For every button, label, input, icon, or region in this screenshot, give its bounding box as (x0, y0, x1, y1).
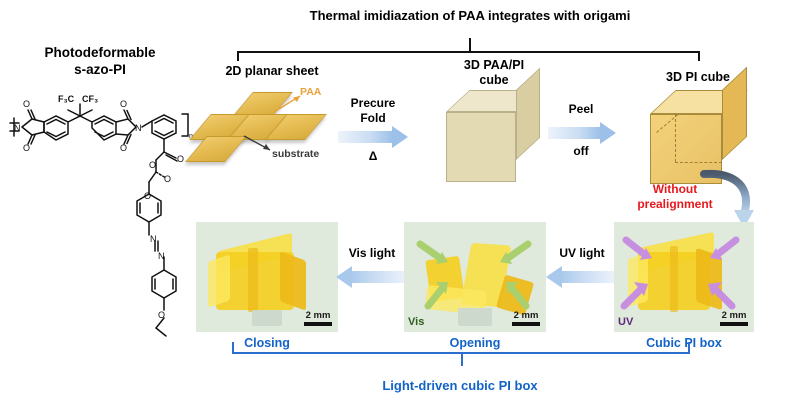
pi-cube-hidden-edge-vertical (675, 114, 676, 162)
precure-label-line2: Fold (336, 111, 410, 126)
bottom-bracket-tick-left (232, 342, 234, 352)
3d-paa-pi-cube-illustration (446, 90, 542, 182)
top-bracket-tick-left (237, 51, 239, 61)
paa-leader-arrow-icon (272, 92, 306, 114)
paa-pi-cube-heading-line2: cube (424, 73, 564, 88)
photo-opening-caption: Opening (404, 336, 546, 350)
photo-cubic-pi-box-caption: Cubic PI box (610, 336, 758, 350)
scalebar-cubic-pi-box: 2 mm (720, 311, 748, 326)
chem-label-o: O (120, 99, 127, 109)
chem-label-n: N (14, 123, 21, 133)
chem-label-azo-n: N (150, 234, 157, 244)
top-bracket-bar (237, 51, 700, 53)
chem-label-o: O (164, 174, 171, 184)
vis-irradiation-arrow-icon (496, 240, 532, 266)
figure-root: Photodeformable s-azo-PI (0, 0, 798, 414)
substrate-label: substrate (272, 148, 319, 160)
uv-irradiation-arrow-icon (706, 278, 738, 310)
uv-irradiation-arrow-icon (620, 278, 652, 310)
scalebar-closing-label: 2 mm (304, 311, 332, 321)
chem-label-o: O (23, 143, 30, 153)
uv-irradiation-arrow-icon (706, 236, 740, 262)
vis-irradiation-arrow-icon (416, 240, 452, 266)
photo-closing: 2 mm (196, 222, 338, 332)
photo-closing-caption: Closing (196, 336, 338, 350)
scalebar-closing-bar (304, 322, 332, 326)
bottom-bracket-stem (461, 352, 463, 366)
top-bracket-tick-right (698, 51, 700, 61)
photo-opening-tag: Vis (408, 316, 424, 328)
chem-label-cf3-right: CF₃ (82, 94, 98, 104)
scalebar-cubic-pi-box-bar (720, 322, 748, 326)
vis-irradiation-arrow-icon (422, 278, 452, 310)
chem-label-o: O (149, 160, 156, 170)
precure-fold-arrow-icon (338, 126, 408, 148)
uv-light-label: UV light (546, 246, 618, 260)
top-title: Thermal imidiazation of PAA integrates w… (255, 8, 685, 23)
substrate-leader-arrow-icon (242, 134, 276, 154)
vis-irradiation-arrow-icon (502, 278, 532, 310)
vis-light-label: Vis light (334, 246, 410, 260)
peel-label-line1: Peel (548, 102, 614, 116)
chem-label-o: O (144, 191, 151, 201)
left-panel-title-line1: Photodeformable (10, 44, 190, 61)
stage-3d-pi-cube-heading: 3D PI cube (618, 70, 778, 84)
stage-3d-paa-pi-cube-heading: 3D PAA/PI cube (424, 58, 564, 88)
bottom-bracket-tick-right (688, 342, 690, 352)
paa-cube-face-front (446, 112, 516, 182)
chem-label-o: O (158, 310, 165, 320)
vis-light-arrow-icon (336, 266, 408, 288)
photo-opening: Vis 2 mm (404, 222, 546, 332)
scalebar-opening-bar (512, 322, 540, 326)
uv-light-arrow-icon (546, 266, 616, 288)
scalebar-opening: 2 mm (512, 311, 540, 326)
uv-irradiation-arrow-icon (622, 236, 656, 262)
chem-label-o: O (177, 154, 184, 164)
photo-cubic-pi-box-tag: UV (618, 316, 633, 328)
precure-label-line1: Precure (336, 96, 410, 111)
chem-label-n: N (135, 123, 142, 133)
bottom-caption: Light-driven cubic PI box (250, 378, 670, 393)
pi-cube-hidden-edge-horizontal (675, 162, 722, 163)
top-bracket-stem (469, 38, 471, 52)
left-panel-title-line2: s-azo-PI (10, 61, 190, 78)
scalebar-cubic-pi-box-label: 2 mm (720, 311, 748, 321)
peel-off-arrow-icon (548, 122, 616, 144)
photo-cubic-pi-box: UV 2 mm (614, 222, 754, 332)
scalebar-opening-label: 2 mm (512, 311, 540, 321)
delta-symbol: Δ (336, 149, 410, 163)
chem-label-cf3-left: F₃C (58, 94, 75, 104)
paa-pi-cube-heading-line1: 3D PAA/PI (424, 58, 564, 73)
bottom-bracket (232, 352, 690, 376)
chemical-structure-s-azo-pi: O O O O N N O O O O N N O n F₃C CF₃ (6, 78, 202, 408)
chem-label-o: O (120, 143, 127, 153)
precure-fold-label: Precure Fold (336, 96, 410, 126)
stage-2d-planar-sheet-heading: 2D planar sheet (192, 64, 352, 78)
chem-label-azo-n: N (158, 251, 165, 261)
scalebar-closing: 2 mm (304, 311, 332, 326)
left-panel-title: Photodeformable s-azo-PI (10, 44, 190, 78)
chem-label-o: O (23, 99, 30, 109)
peel-label-line2: off (548, 144, 614, 158)
